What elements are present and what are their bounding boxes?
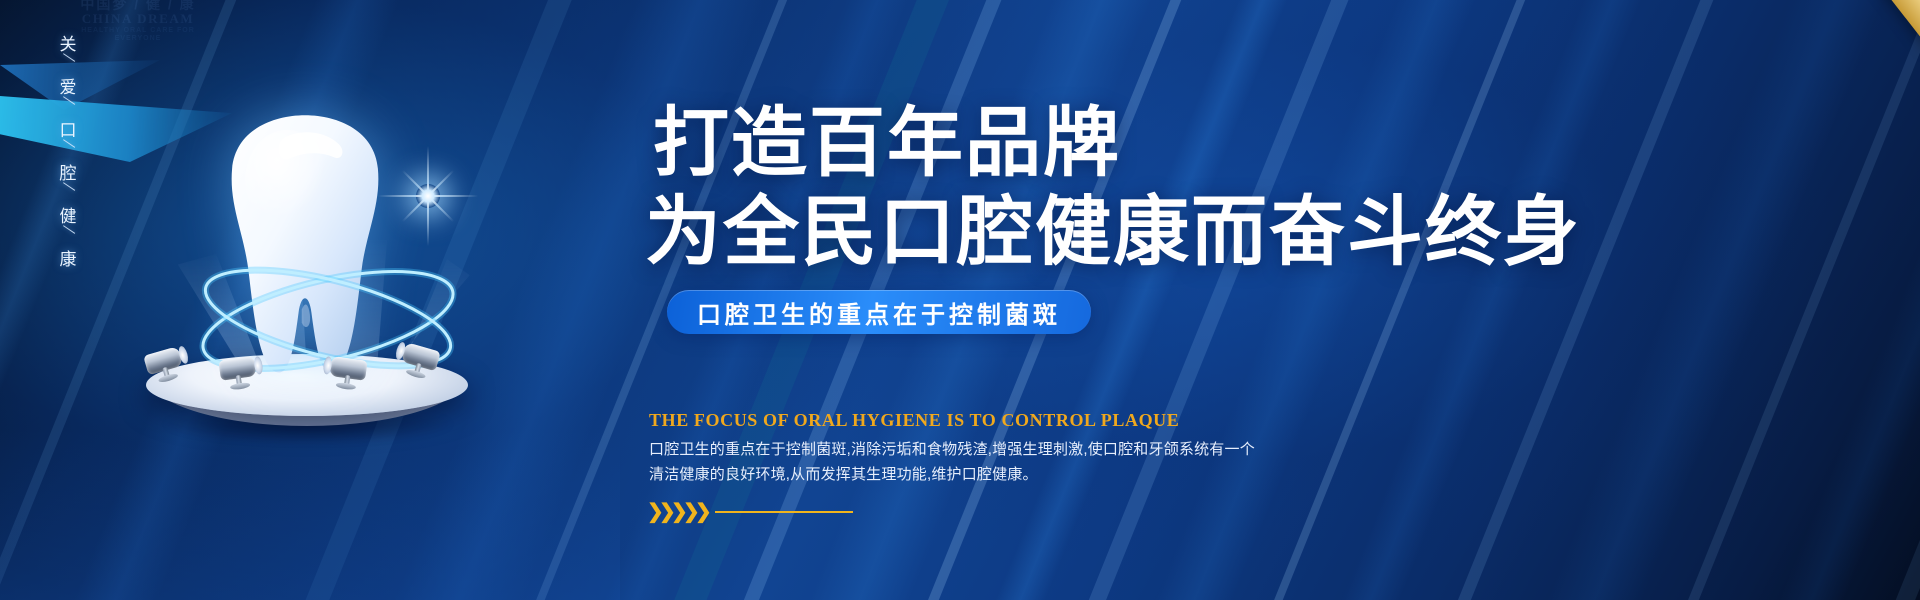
headline-line-2: 为全民口腔健康而奋斗终身: [645, 193, 1545, 274]
bottom-glow: [0, 430, 620, 600]
chevron-right-icon: ❯: [695, 502, 709, 522]
body-paragraph: 口腔卫生的重点在于控制菌斑,消除污垢和食物残渣,增强生理刺激,使口腔和牙颌系统有…: [649, 438, 1189, 488]
slash-separator-icon: [59, 53, 77, 79]
subtitle-pill-label: 口腔卫生的重点在于控制菌斑: [697, 295, 1061, 330]
dental-promo-banner: 中国梦 / 健 / 康 CHINA DREAM HEALTHY ORAL CAR…: [0, 0, 1920, 600]
vertical-slogan-char: 健: [60, 208, 77, 225]
headline: 打造百年品牌 为全民口腔健康而奋斗终身: [645, 104, 1545, 273]
spotlight: [218, 355, 261, 386]
sparkle-ray: [402, 170, 454, 222]
text-content: 打造百年品牌 为全民口腔健康而奋斗终身 口腔卫生的重点在于控制菌斑 THE FO…: [645, 0, 1545, 600]
vertical-slogan-char: 口: [60, 122, 77, 139]
sparkle-core: [416, 184, 440, 208]
vertical-slogan-char: 康: [60, 251, 77, 268]
slash-separator-icon: [59, 139, 77, 165]
vertical-slogan: 关 爱 口 腔 健 康: [48, 36, 88, 268]
corner-ribbon-label: 关爱口腔健康: [1794, 0, 1920, 6]
sparkle-ray: [427, 146, 429, 246]
vertical-slogan-char: 爱: [60, 79, 77, 96]
subtitle-pill[interactable]: 口腔卫生的重点在于控制菌斑: [667, 290, 1091, 334]
sparkle-ray: [378, 195, 478, 197]
chevron-decoration: ❯ ❯ ❯ ❯ ❯: [647, 502, 853, 522]
gold-rule: [715, 511, 853, 513]
corner-ribbon: 关爱口腔健康: [1754, 0, 1920, 50]
vertical-slogan-char: 关: [60, 36, 77, 53]
body-line-1: 口腔卫生的重点在于控制菌斑,消除污垢和食物残渣,增强生理刺激,使口腔和牙颌系统有…: [649, 438, 1189, 463]
headline-line-1: 打造百年品牌: [645, 104, 1545, 185]
slash-separator-icon: [59, 96, 77, 122]
sparkle-icon: [368, 136, 488, 256]
body-line-2: 清洁健康的良好环境,从而发挥其生理功能,维护口腔健康。: [649, 463, 1189, 488]
english-tagline: THE FOCUS OF ORAL HYGIENE IS TO CONTROL …: [649, 410, 1179, 431]
spotlight: [324, 355, 367, 386]
slash-separator-icon: [59, 225, 77, 251]
watermark-en-text: CHINA DREAM: [58, 12, 218, 27]
sparkle-ray: [402, 170, 454, 222]
slash-separator-icon: [59, 182, 77, 208]
vertical-slogan-char: 腔: [60, 165, 77, 182]
tooth-illustration: [120, 58, 520, 428]
